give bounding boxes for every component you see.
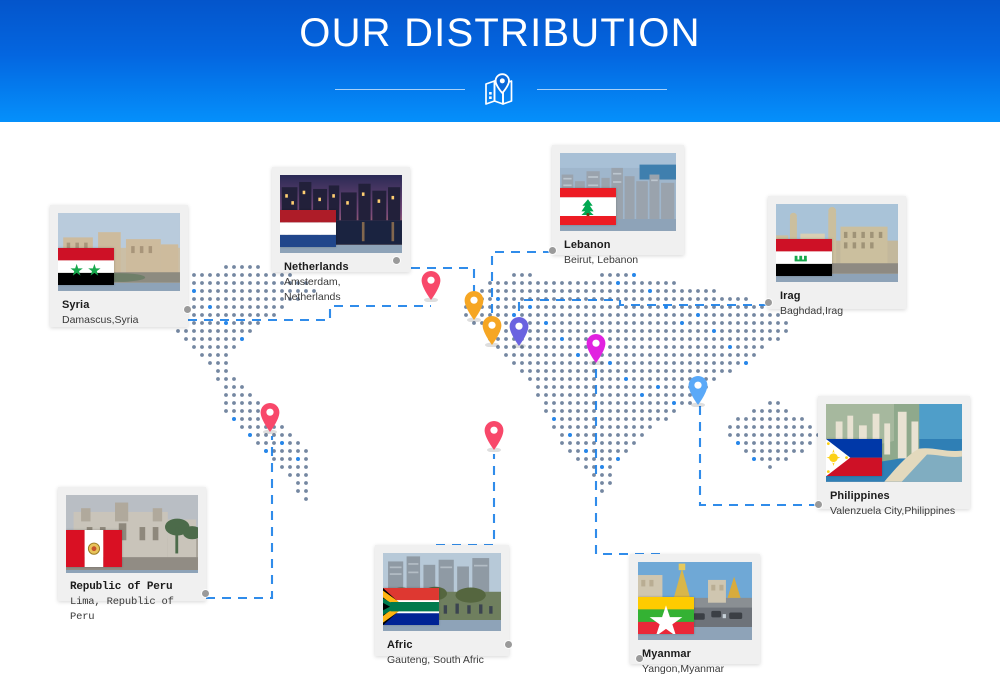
card-photo-lebanon	[560, 153, 676, 231]
card-photo-netherlands	[280, 175, 402, 253]
map-pin-iraq[interactable]	[508, 316, 530, 348]
page-title: OUR DISTRIBUTION	[0, 11, 1000, 56]
map-pin-icon	[478, 68, 522, 110]
card-photo-iraq	[776, 204, 898, 282]
card-photo-myanmar	[638, 562, 752, 640]
map-pin-syria[interactable]	[420, 270, 442, 302]
divider-line-right	[537, 89, 667, 90]
location-card-syria[interactable]: SyriaDamascus,Syria	[50, 205, 188, 327]
card-country-name: Irag	[780, 289, 896, 304]
card-country-name: Afric	[387, 638, 499, 653]
location-card-netherlands[interactable]: NetherlandsAmsterdam, Netherlands	[272, 167, 410, 272]
south-africa-flag	[383, 588, 439, 625]
myanmar-flag	[638, 597, 694, 634]
card-city-name: Damascus,Syria	[62, 313, 178, 328]
map-pin-africa[interactable]	[483, 420, 505, 452]
card-city-name: Lima, Republic of Peru	[70, 595, 196, 625]
syria-flag	[58, 248, 114, 285]
map-pin-myanmar[interactable]	[585, 333, 607, 365]
card-connector-dot	[815, 501, 822, 508]
peru-flag	[66, 530, 122, 567]
card-text-myanmar: MyanmarYangon,Myanmar	[638, 640, 752, 679]
map-pin-peru[interactable]	[259, 402, 281, 434]
card-country-name: Philippines	[830, 489, 960, 504]
map-pin-lebanon[interactable]	[481, 315, 503, 347]
card-connector-dot	[549, 247, 556, 254]
card-text-africa: AfricGauteng, South Afric	[383, 631, 501, 670]
location-card-lebanon[interactable]: LebanonBeirut, Lebanon	[552, 145, 684, 255]
header-divider	[0, 68, 1000, 110]
card-text-philippines: PhilippinesValenzuela City,Philippines	[826, 482, 962, 521]
netherlands-flag	[280, 210, 336, 247]
card-country-name: Syria	[62, 298, 178, 313]
lebanon-flag	[560, 188, 616, 225]
location-card-myanmar[interactable]: MyanmarYangon,Myanmar	[630, 554, 760, 664]
card-connector-dot	[765, 299, 772, 306]
location-card-iraq[interactable]: IragBaghdad,Irag	[768, 196, 906, 309]
card-text-peru: Republic of PeruLima, Republic of Peru	[66, 573, 198, 627]
card-photo-syria	[58, 213, 180, 291]
card-city-name: Valenzuela City,Philippines	[830, 504, 960, 519]
card-connector-dot	[636, 655, 643, 662]
card-country-name: Netherlands	[284, 260, 400, 275]
card-country-name: Myanmar	[642, 647, 750, 662]
card-text-netherlands: NetherlandsAmsterdam, Netherlands	[280, 253, 402, 307]
divider-line-left	[335, 89, 465, 90]
map-pin-philippines[interactable]	[687, 375, 709, 407]
card-city-name: Beirut, Lebanon	[564, 253, 674, 268]
card-connector-dot	[202, 590, 209, 597]
card-city-name: Amsterdam, Netherlands	[284, 275, 400, 305]
page-header: OUR DISTRIBUTION	[0, 0, 1000, 122]
card-country-name: Lebanon	[564, 238, 674, 253]
iraq-flag	[776, 239, 832, 276]
card-text-lebanon: LebanonBeirut, Lebanon	[560, 231, 676, 270]
card-city-name: Baghdad,Irag	[780, 304, 896, 319]
distribution-page: OUR DISTRIBUTION	[0, 0, 1000, 700]
philippines-flag	[826, 439, 882, 476]
card-text-syria: SyriaDamascus,Syria	[58, 291, 180, 330]
card-city-name: Yangon,Myanmar	[642, 662, 750, 677]
card-photo-philippines	[826, 404, 962, 482]
location-card-philippines[interactable]: PhilippinesValenzuela City,Philippines	[818, 396, 970, 509]
card-photo-africa	[383, 553, 501, 631]
card-city-name: Gauteng, South Afric	[387, 653, 499, 668]
location-card-africa[interactable]: AfricGauteng, South Afric	[375, 545, 509, 656]
card-photo-peru	[66, 495, 198, 573]
card-connector-dot	[505, 641, 512, 648]
card-connector-dot	[184, 306, 191, 313]
location-card-peru[interactable]: Republic of PeruLima, Republic of Peru	[58, 487, 206, 601]
card-connector-dot	[393, 257, 400, 264]
card-text-iraq: IragBaghdad,Irag	[776, 282, 898, 321]
card-country-name: Republic of Peru	[70, 580, 196, 595]
